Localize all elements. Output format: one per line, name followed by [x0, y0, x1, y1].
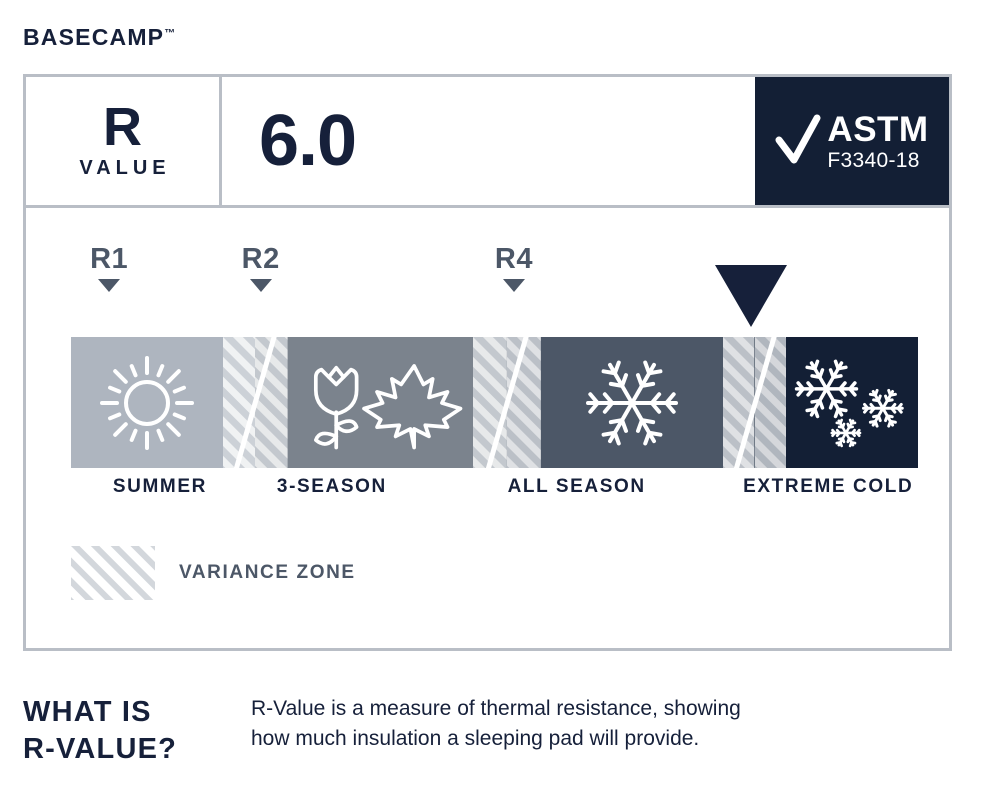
rvalue-value-box: 6.0: [222, 77, 755, 205]
rvalue-card: R VALUE 6.0 ASTM F3340-18 R1R2R4: [23, 74, 952, 651]
variance-legend-label: VARIANCE ZONE: [179, 562, 356, 584]
scale-marker-r2: R2: [221, 245, 301, 292]
scale-segment-three-season: [288, 337, 473, 468]
segment-captions: SUMMER3-SEASONALL SEASONEXTREME COLD: [26, 476, 949, 506]
rvalue-label-box: R VALUE: [26, 77, 222, 205]
scale-segment-extreme-cold: [786, 337, 918, 468]
astm-text-group: ASTM F3340-18: [827, 112, 928, 171]
check-icon: [775, 113, 821, 169]
segment-caption-summer: SUMMER: [113, 476, 207, 498]
scale-segment-summer: [71, 337, 223, 468]
footer-body-line2: how much insulation a sleeping pad will …: [251, 724, 741, 754]
scale-marker-triangle-icon: [98, 279, 120, 292]
card-header: R VALUE 6.0 ASTM F3340-18: [26, 77, 949, 208]
variance-hatch-left: [473, 337, 507, 468]
trademark-symbol: ™: [164, 27, 175, 39]
segment-caption-extreme-cold: EXTREME COLD: [743, 476, 913, 498]
diagonal-hatch-swatch: [71, 546, 155, 600]
footer-explainer: WHAT IS R-VALUE? R-Value is a measure of…: [23, 694, 963, 768]
footer-body: R-Value is a measure of thermal resistan…: [251, 694, 741, 755]
rvalue-number: 6.0: [259, 105, 356, 177]
scale-marker-label: R4: [474, 245, 554, 274]
footer-heading: WHAT IS R-VALUE?: [23, 694, 251, 768]
rvalue-letter: R: [103, 102, 142, 153]
sun-icon: [91, 347, 203, 459]
scale-marker-triangle-icon: [250, 279, 272, 292]
variance-zone-3: [723, 337, 786, 468]
brand-name: BASECAMP: [23, 24, 164, 50]
variance-zone-2: [473, 337, 541, 468]
variance-hatch-right: [507, 337, 541, 468]
astm-spec: F3340-18: [827, 150, 919, 171]
scale-markers: R1R2R4: [26, 208, 949, 338]
astm-badge: ASTM F3340-18: [755, 77, 949, 205]
snowflake-trio-icon: [786, 347, 918, 459]
variance-hatch-right: [255, 337, 288, 468]
astm-standard: ASTM: [827, 112, 928, 147]
scale-marker-r1: R1: [69, 245, 149, 292]
snowflake-icon: [576, 347, 688, 459]
scale-marker-label: R2: [221, 245, 301, 274]
variance-legend: VARIANCE ZONE: [71, 546, 356, 600]
brand-logo: BASECAMP™: [23, 26, 175, 49]
current-value-pointer: [715, 265, 787, 327]
rvalue-word: VALUE: [79, 157, 170, 180]
scale-marker-label: R1: [69, 245, 149, 274]
scale-segment-all-season: [541, 337, 723, 468]
variance-zone-1: [223, 337, 288, 468]
footer-body-line1: R-Value is a measure of thermal resistan…: [251, 694, 741, 724]
flower-leaf-icon: [288, 347, 473, 459]
footer-heading-line2: R-VALUE?: [23, 731, 251, 768]
footer-heading-line1: WHAT IS: [23, 694, 251, 731]
segment-caption-three-season: 3-SEASON: [277, 476, 387, 498]
scale-marker-r4: R4: [474, 245, 554, 292]
scale-marker-triangle-icon: [503, 279, 525, 292]
scale-area: R1R2R4 SUMMER3-SEASONALL SEASONEXTREME C…: [26, 208, 949, 648]
segment-caption-all-season: ALL SEASON: [508, 476, 646, 498]
rvalue-scale-bar: [71, 337, 918, 468]
